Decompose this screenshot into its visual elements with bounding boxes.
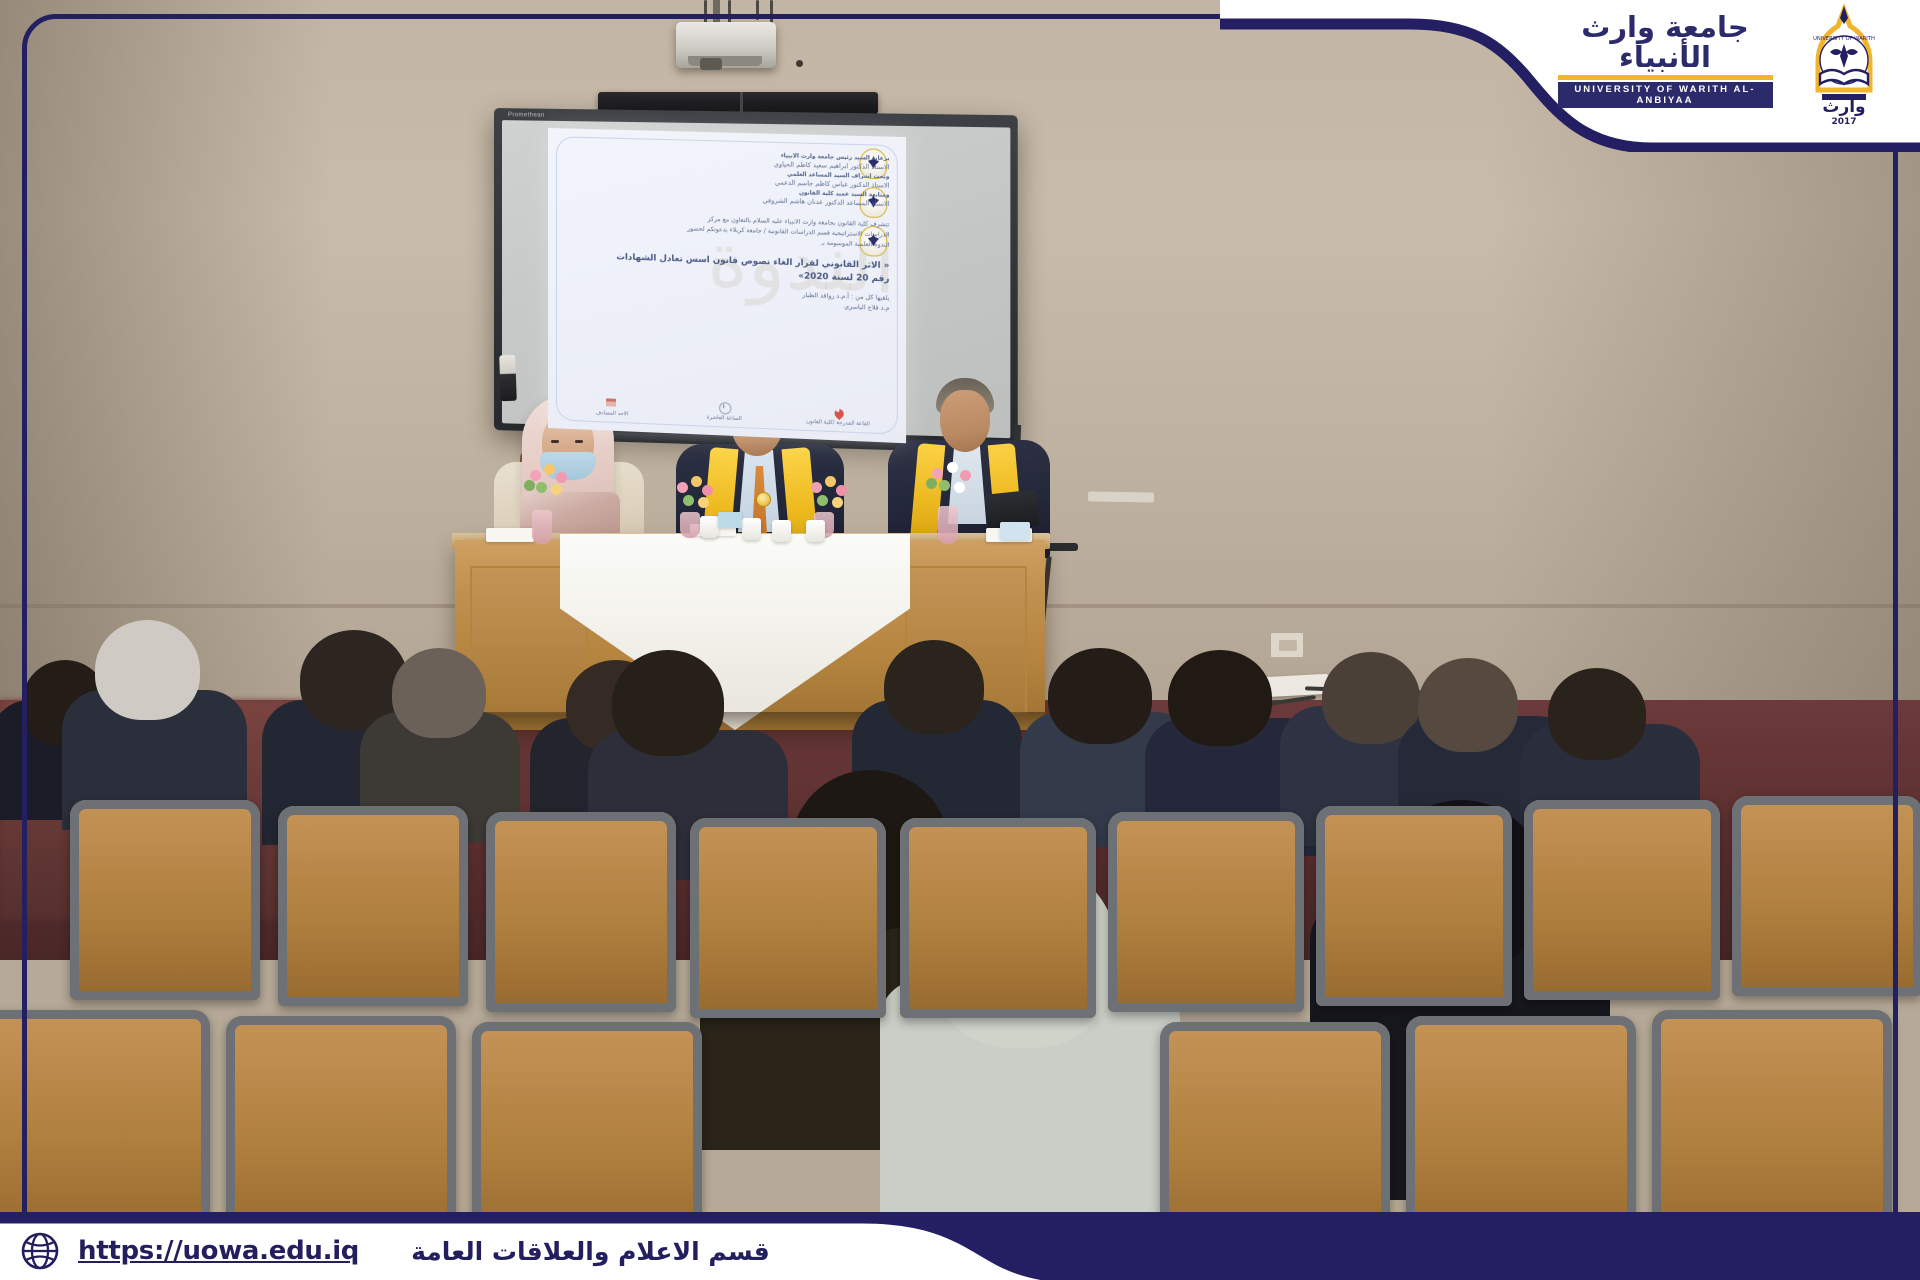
seat-7 (1316, 806, 1512, 1006)
cup-2 (742, 518, 761, 540)
vase-left (532, 510, 552, 544)
audience-member-11-head (1418, 658, 1518, 752)
clock-icon (719, 401, 730, 414)
audience-member-10-head (1322, 652, 1420, 744)
ceiling-projector (676, 22, 776, 68)
panelist-left-eye-l (551, 440, 559, 443)
audience-member-8-head (1048, 648, 1152, 744)
slide-text-block: برعاية السيد رئيس جامعة وارث الانبياء ال… (558, 146, 890, 313)
event-photograph: Promethean الندوة برعاية السيد رئيس جامع… (0, 0, 1920, 1280)
location-pin-icon (832, 406, 843, 419)
wall-power-socket (1270, 632, 1304, 658)
svg-text:وارث: وارث (1822, 97, 1865, 117)
slide-info-venue: القاعة المدرجة /كلية القانون (787, 404, 890, 429)
spare-mask (718, 512, 742, 528)
panelist-center-medal (756, 492, 771, 507)
wordmark-english-text: UNIVERSITY OF WARITH AL-ANBIYAA (1558, 82, 1773, 108)
university-wordmark: جامعة وارث الأنبياء UNIVERSITY OF WARITH… (1550, 12, 1780, 68)
audience-member-4-head (392, 648, 486, 738)
audience-member-6-head (612, 650, 724, 756)
footer-website-link[interactable]: https://uowa.edu.iq (78, 1236, 359, 1266)
footer-department-label: قسم الاعلام والعلاقات العامة (411, 1237, 770, 1266)
university-seal-icon: UNIVERSITY OF WARITH وارث 2017 (1790, 4, 1898, 128)
svg-text:UNIVERSITY OF WARITH: UNIVERSITY OF WARITH (1813, 36, 1875, 42)
slide-info-date: الاحد المصادف (562, 395, 662, 419)
audience-member-7-head (884, 640, 984, 734)
slide-info-date-label: الاحد المصادف (596, 410, 629, 417)
wordmark-gold-rule (1558, 75, 1773, 80)
footer-branding-bar: https://uowa.edu.iq قسم الاعلام والعلاقا… (0, 1212, 1130, 1280)
cup-4 (806, 520, 825, 542)
vase-right (938, 506, 958, 544)
wall-shadow-left (0, 0, 330, 720)
wordmark-arabic-text: جامعة وارث الأنبياء (1550, 12, 1780, 73)
seat-2 (278, 806, 468, 1006)
panelist-right-face (940, 390, 990, 452)
seat-3 (486, 812, 676, 1012)
seal-year-text: 2017 (1831, 117, 1856, 127)
whiteboard-brand-label: Promethean (508, 112, 545, 119)
seat-4 (690, 818, 886, 1018)
spare-mask-right (1000, 522, 1030, 540)
vase-center-left (680, 512, 700, 538)
footer-content: https://uowa.edu.iq قسم الاعلام والعلاقا… (0, 1222, 770, 1280)
ceiling-fixture-dot (796, 60, 803, 67)
seat-front-1 (0, 1010, 210, 1240)
cup-3 (772, 520, 791, 542)
projected-slide: الندوة برعاية السيد رئيس جامعة وارث الان… (548, 128, 906, 443)
seat-6 (1108, 812, 1304, 1012)
flower-bouquet-left (524, 464, 582, 516)
panelist-left-eye-r (575, 440, 583, 443)
poster-image: Promethean الندوة برعاية السيد رئيس جامع… (0, 0, 1920, 1280)
cup-1 (700, 516, 719, 538)
audience-member-2-head (95, 620, 200, 720)
projector-lens (700, 58, 722, 70)
audience-member-12-head (1548, 668, 1646, 760)
seat-5 (900, 818, 1096, 1018)
globe-icon (20, 1231, 60, 1271)
seat-1 (70, 800, 260, 1000)
audience-member-9-head (1168, 650, 1272, 746)
whiteboard-side-clip (499, 355, 517, 402)
slide-info-time: الساعة العاشرة (674, 399, 776, 423)
seat-9 (1732, 796, 1920, 996)
seat-8 (1524, 800, 1720, 1000)
calendar-icon (606, 396, 617, 408)
header-branding-banner: جامعة وارث الأنبياء UNIVERSITY OF WARITH… (1220, 0, 1920, 152)
paper-stack-left (486, 528, 534, 542)
wall-fixture (1088, 491, 1154, 502)
